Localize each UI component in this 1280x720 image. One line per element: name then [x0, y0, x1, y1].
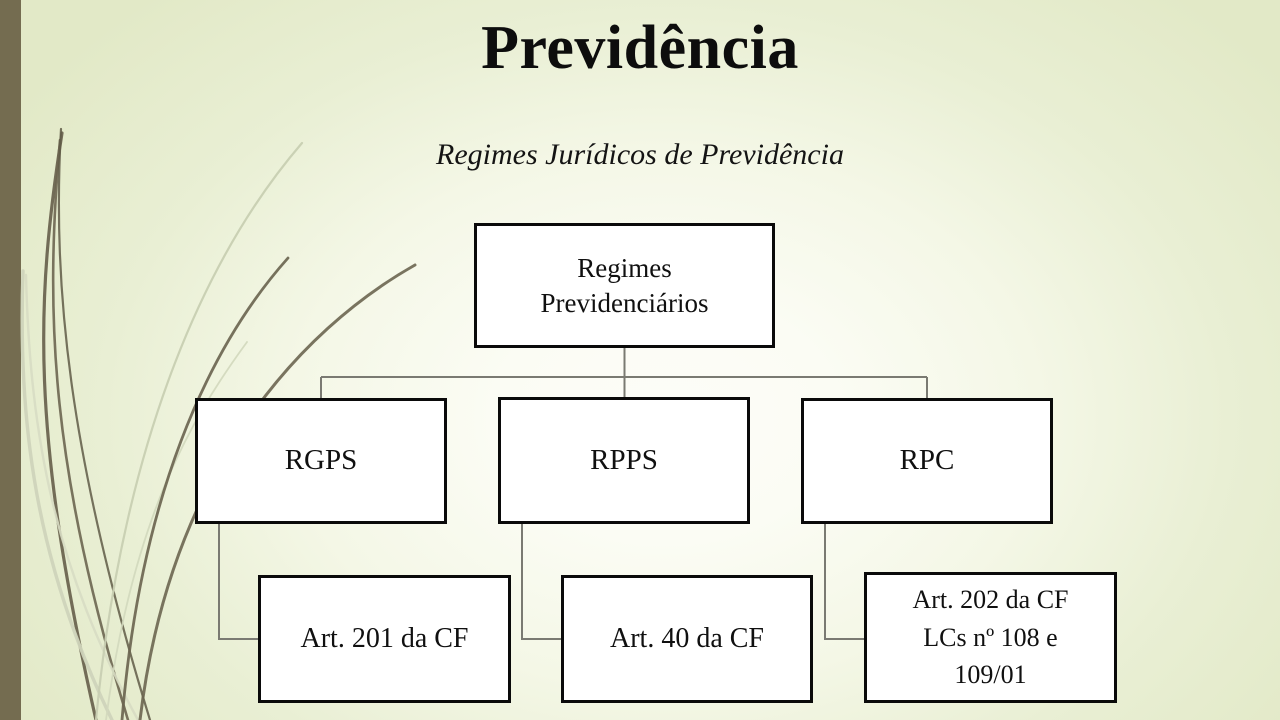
node-rpc[interactable]: RPC: [801, 398, 1053, 524]
node-regimes-previdenciarios[interactable]: Regimes Previdenciários: [474, 223, 775, 348]
node-art-201-da-cf[interactable]: Art. 201 da CF: [258, 575, 511, 703]
regimes-previdenciarios-diagram: Regimes Previdenciários RGPS RPPS RPC Ar…: [0, 0, 1280, 720]
node-label-line1: Art. 202 da CF: [913, 585, 1069, 614]
node-label: Art. 202 da CFLCs nº 108 e109/01: [913, 581, 1069, 694]
node-label-line2-prefix: LCs n: [923, 623, 986, 652]
node-label-line2-suffix: 108 e: [994, 623, 1058, 652]
node-rpps[interactable]: RPPS: [498, 397, 750, 524]
node-label: RPPS: [590, 442, 658, 479]
node-label: Regimes Previdenciários: [541, 251, 709, 320]
node-label: RGPS: [285, 442, 358, 479]
node-art-40-da-cf[interactable]: Art. 40 da CF: [561, 575, 813, 703]
node-label: Art. 40 da CF: [610, 621, 764, 657]
node-label: Art. 201 da CF: [301, 621, 469, 657]
node-rgps[interactable]: RGPS: [195, 398, 447, 524]
node-label-line3: 109/01: [954, 660, 1026, 689]
ordinal-indicator-icon: º: [986, 623, 994, 652]
node-label: RPC: [900, 442, 955, 479]
node-art-202-da-cf-lcs[interactable]: Art. 202 da CFLCs nº 108 e109/01: [864, 572, 1117, 703]
slide-canvas: Previdência Regimes Jurídicos de Previdê…: [0, 0, 1280, 720]
